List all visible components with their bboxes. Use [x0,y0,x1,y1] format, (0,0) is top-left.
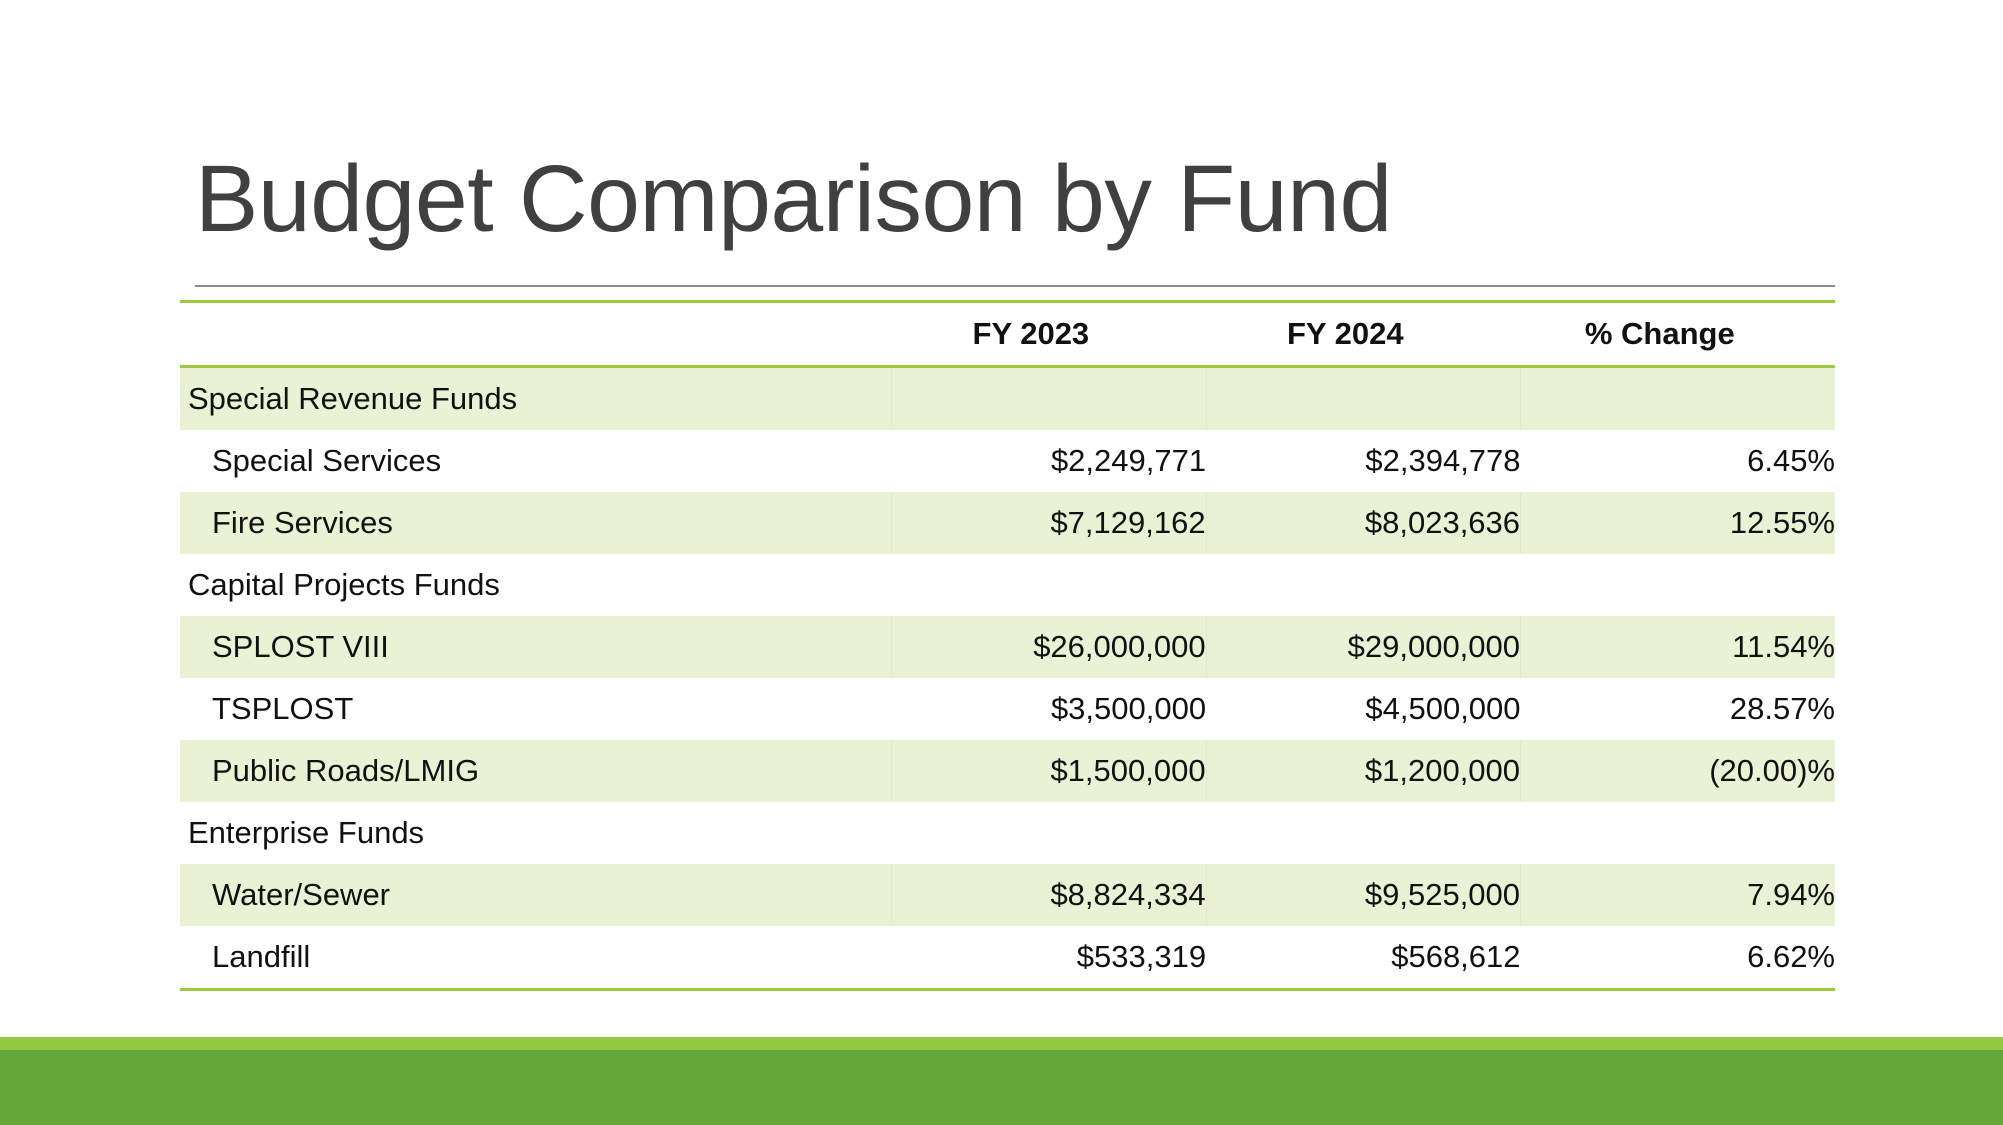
title-underline-rule [195,285,1835,287]
percent-change-value: 12.55% [1521,492,1835,554]
fund-name-label: Special Services [180,430,892,492]
column-header-fund [180,303,892,365]
fund-name-label: SPLOST VIII [180,616,892,678]
fund-group-label: Enterprise Funds [180,802,892,864]
fy2024-value: $9,525,000 [1206,864,1520,926]
table-row: Landfill$533,319$568,6126.62% [180,926,1835,988]
column-header-fy2024: FY 2024 [1206,303,1520,365]
budget-comparison-table: FY 2023 FY 2024 % Change Special Revenue… [180,303,1835,988]
fy2023-value [892,802,1206,864]
table-row: SPLOST VIII$26,000,000$29,000,00011.54% [180,616,1835,678]
percent-change-value [1521,368,1835,430]
table-row: Special Services$2,249,771$2,394,7786.45… [180,430,1835,492]
table-row: Fire Services$7,129,162$8,023,63612.55% [180,492,1835,554]
fy2024-value: $568,612 [1206,926,1520,988]
percent-change-value: 11.54% [1521,616,1835,678]
table-header: FY 2023 FY 2024 % Change [180,303,1835,365]
percent-change-value [1521,554,1835,616]
footer-band-dark-green [0,1050,2003,1125]
budget-table-container: FY 2023 FY 2024 % Change Special Revenue… [180,300,1835,991]
fy2023-value: $8,824,334 [892,864,1206,926]
fy2023-value: $533,319 [892,926,1206,988]
fy2023-value [892,554,1206,616]
percent-change-value [1521,802,1835,864]
fund-name-label: Fire Services [180,492,892,554]
fy2024-value: $8,023,636 [1206,492,1520,554]
fy2023-value [892,368,1206,430]
fy2023-value: $2,249,771 [892,430,1206,492]
page-title: Budget Comparison by Fund [195,152,1835,247]
percent-change-value: 6.45% [1521,430,1835,492]
fy2024-value: $2,394,778 [1206,430,1520,492]
fy2024-value [1206,554,1520,616]
table-row: TSPLOST$3,500,000$4,500,00028.57% [180,678,1835,740]
fy2024-value: $29,000,000 [1206,616,1520,678]
table-row: Water/Sewer$8,824,334$9,525,0007.94% [180,864,1835,926]
table-row: Public Roads/LMIG$1,500,000$1,200,000(20… [180,740,1835,802]
fund-name-label: Public Roads/LMIG [180,740,892,802]
fy2023-value: $1,500,000 [892,740,1206,802]
table-bottom-rule [180,988,1835,991]
percent-change-value: 28.57% [1521,678,1835,740]
fy2023-value: $7,129,162 [892,492,1206,554]
fund-name-label: Water/Sewer [180,864,892,926]
footer-band-light-green [0,1037,2003,1050]
fy2023-value: $3,500,000 [892,678,1206,740]
table-body: Special Revenue FundsSpecial Services$2,… [180,365,1835,988]
fy2024-value: $4,500,000 [1206,678,1520,740]
percent-change-value: 6.62% [1521,926,1835,988]
fy2024-value [1206,368,1520,430]
fund-group-label: Capital Projects Funds [180,554,892,616]
table-group-row: Capital Projects Funds [180,554,1835,616]
percent-change-value: (20.00)% [1521,740,1835,802]
fund-name-label: Landfill [180,926,892,988]
column-header-percent-change: % Change [1521,303,1835,365]
table-header-row: FY 2023 FY 2024 % Change [180,303,1835,365]
fy2024-value [1206,802,1520,864]
column-header-fy2023: FY 2023 [892,303,1206,365]
table-group-row: Special Revenue Funds [180,368,1835,430]
fund-group-label: Special Revenue Funds [180,368,892,430]
fund-name-label: TSPLOST [180,678,892,740]
presentation-slide: Budget Comparison by Fund FY 2023 FY 202… [0,0,2003,1125]
table-group-row: Enterprise Funds [180,802,1835,864]
title-block: Budget Comparison by Fund [195,152,1835,247]
fy2024-value: $1,200,000 [1206,740,1520,802]
percent-change-value: 7.94% [1521,864,1835,926]
fy2023-value: $26,000,000 [892,616,1206,678]
